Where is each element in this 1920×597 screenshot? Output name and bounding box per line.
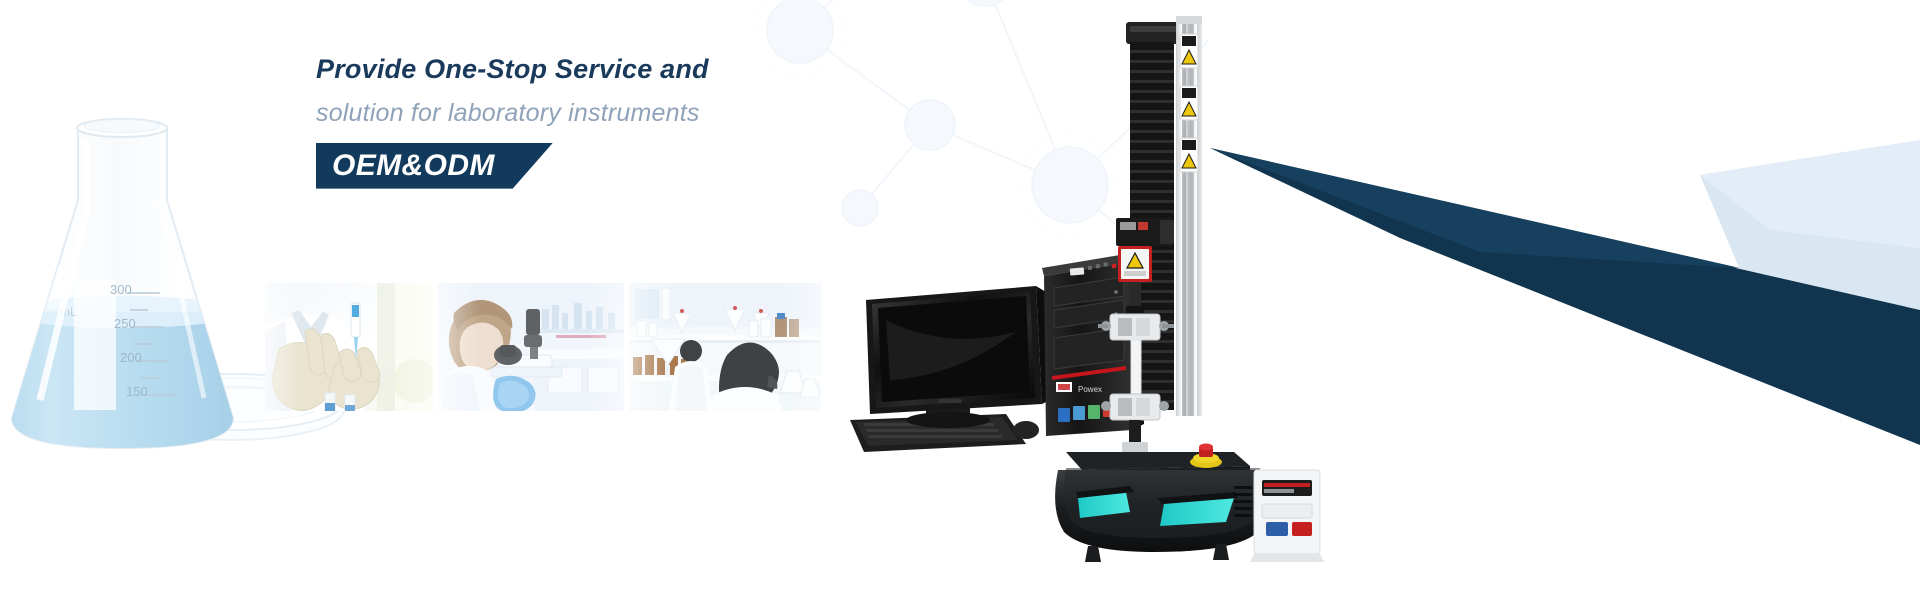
lcd-monitor xyxy=(866,286,1050,428)
photo-microscope xyxy=(438,283,624,411)
svg-text:Powex: Powex xyxy=(1078,385,1102,394)
equipment-group: Powex xyxy=(830,0,1390,597)
oem-odm-badge: OEM&ODM xyxy=(316,143,556,189)
svg-text:250: 250 xyxy=(114,316,136,331)
svg-text:200: 200 xyxy=(120,350,142,365)
hero-banner: 300 250 200 150 mL Provide One-Stop Serv… xyxy=(0,0,1920,597)
desktop-computer-image: Powex xyxy=(850,254,1144,452)
warning-labels xyxy=(1180,34,1198,172)
control-cabinet xyxy=(1250,470,1324,562)
emergency-stop-button xyxy=(1190,444,1222,469)
machine-base xyxy=(1055,468,1268,562)
lab-photo-strip xyxy=(265,283,821,411)
photo-lab-bench xyxy=(629,283,821,411)
photo-pipetting xyxy=(265,283,433,411)
svg-text:300: 300 xyxy=(110,282,132,297)
badge-label: OEM&ODM xyxy=(332,147,495,185)
